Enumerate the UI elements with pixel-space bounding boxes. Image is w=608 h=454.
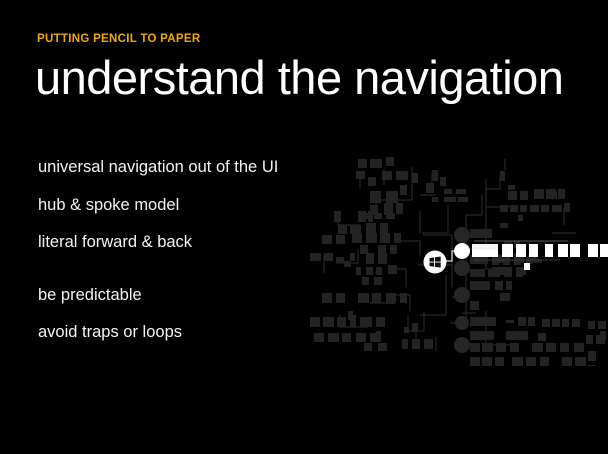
active-node-dot bbox=[454, 243, 470, 259]
windows-hub-node bbox=[424, 251, 447, 274]
list-item: be predictable bbox=[38, 287, 298, 304]
list-item: universal navigation out of the UI bbox=[38, 159, 298, 176]
eyebrow-label: PUTTING PENCIL TO PAPER bbox=[37, 33, 200, 45]
navigation-map-graphic bbox=[300, 145, 608, 380]
bullet-list: universal navigation out of the UI hub &… bbox=[38, 159, 298, 362]
page-title: understand the navigation bbox=[35, 52, 563, 104]
list-item: literal forward & back bbox=[38, 234, 298, 251]
list-item: avoid traps or loops bbox=[38, 324, 298, 341]
list-item: hub & spoke model bbox=[38, 197, 298, 214]
slide-canvas: PUTTING PENCIL TO PAPER understand the n… bbox=[0, 0, 608, 454]
app-bar bbox=[0, 366, 608, 454]
